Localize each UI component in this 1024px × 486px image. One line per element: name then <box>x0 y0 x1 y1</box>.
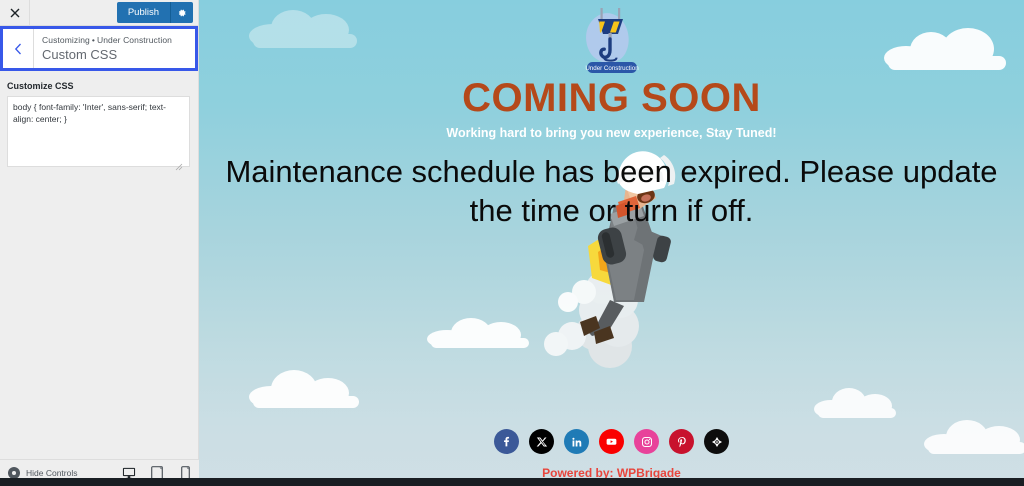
social-link-pinterest[interactable] <box>669 429 694 454</box>
customizer-topbar: Publish <box>0 0 198 26</box>
site-preview: Under Construction <box>199 0 1024 486</box>
coming-soon-subtitle: Working hard to bring you new experience… <box>199 126 1024 140</box>
social-link-x-twitter[interactable] <box>529 429 554 454</box>
breadcrumb-separator: • <box>90 35 97 45</box>
pinterest-icon <box>676 436 688 448</box>
publish-settings-button[interactable] <box>170 2 193 23</box>
custom-css-label: Customize CSS <box>7 81 191 91</box>
page-title: Custom CSS <box>42 47 195 63</box>
hide-controls-label: Hide Controls <box>26 468 78 478</box>
customizer-screen: Publish Customizing•Under Construction <box>0 0 1024 486</box>
social-link-behance[interactable] <box>704 429 729 454</box>
breadcrumb: Customizing•Under Construction <box>42 35 195 46</box>
close-icon <box>10 8 20 18</box>
linkedin-icon <box>571 436 583 448</box>
publish-group: Publish <box>117 2 193 23</box>
under-construction-logo-icon: Under Construction <box>569 6 655 76</box>
publish-button[interactable]: Publish <box>117 2 170 23</box>
social-link-facebook[interactable] <box>494 429 519 454</box>
chevron-left-icon <box>14 43 22 55</box>
coming-soon-title: COMING SOON <box>199 76 1024 121</box>
custom-css-input[interactable] <box>7 96 190 167</box>
social-link-youtube[interactable] <box>599 429 624 454</box>
facebook-icon <box>500 435 513 448</box>
customizer-sidebar: Publish Customizing•Under Construction <box>0 0 199 486</box>
bottom-strip <box>0 478 1024 486</box>
instagram-icon <box>641 436 653 448</box>
panel-title-group: Customizing•Under Construction Custom CS… <box>34 29 195 68</box>
breadcrumb-root: Customizing <box>42 35 90 45</box>
social-links <box>199 429 1024 454</box>
custom-css-section: Customize CSS <box>0 71 198 172</box>
x-twitter-icon <box>536 436 548 448</box>
logo-badge-text: Under Construction <box>585 65 639 72</box>
behance-icon <box>710 435 724 449</box>
close-customizer-button[interactable] <box>0 0 30 25</box>
social-link-instagram[interactable] <box>634 429 659 454</box>
logo: Under Construction <box>199 6 1024 76</box>
maintenance-message: Maintenance schedule has been expired. P… <box>199 152 1024 230</box>
panel-header[interactable]: Customizing•Under Construction Custom CS… <box>0 26 198 71</box>
panel-back-button[interactable] <box>3 29 34 68</box>
preview-content: Under Construction <box>199 0 1024 486</box>
breadcrumb-section: Under Construction <box>97 35 172 45</box>
youtube-icon <box>605 435 618 448</box>
social-link-linkedin[interactable] <box>564 429 589 454</box>
gear-icon <box>177 8 187 18</box>
